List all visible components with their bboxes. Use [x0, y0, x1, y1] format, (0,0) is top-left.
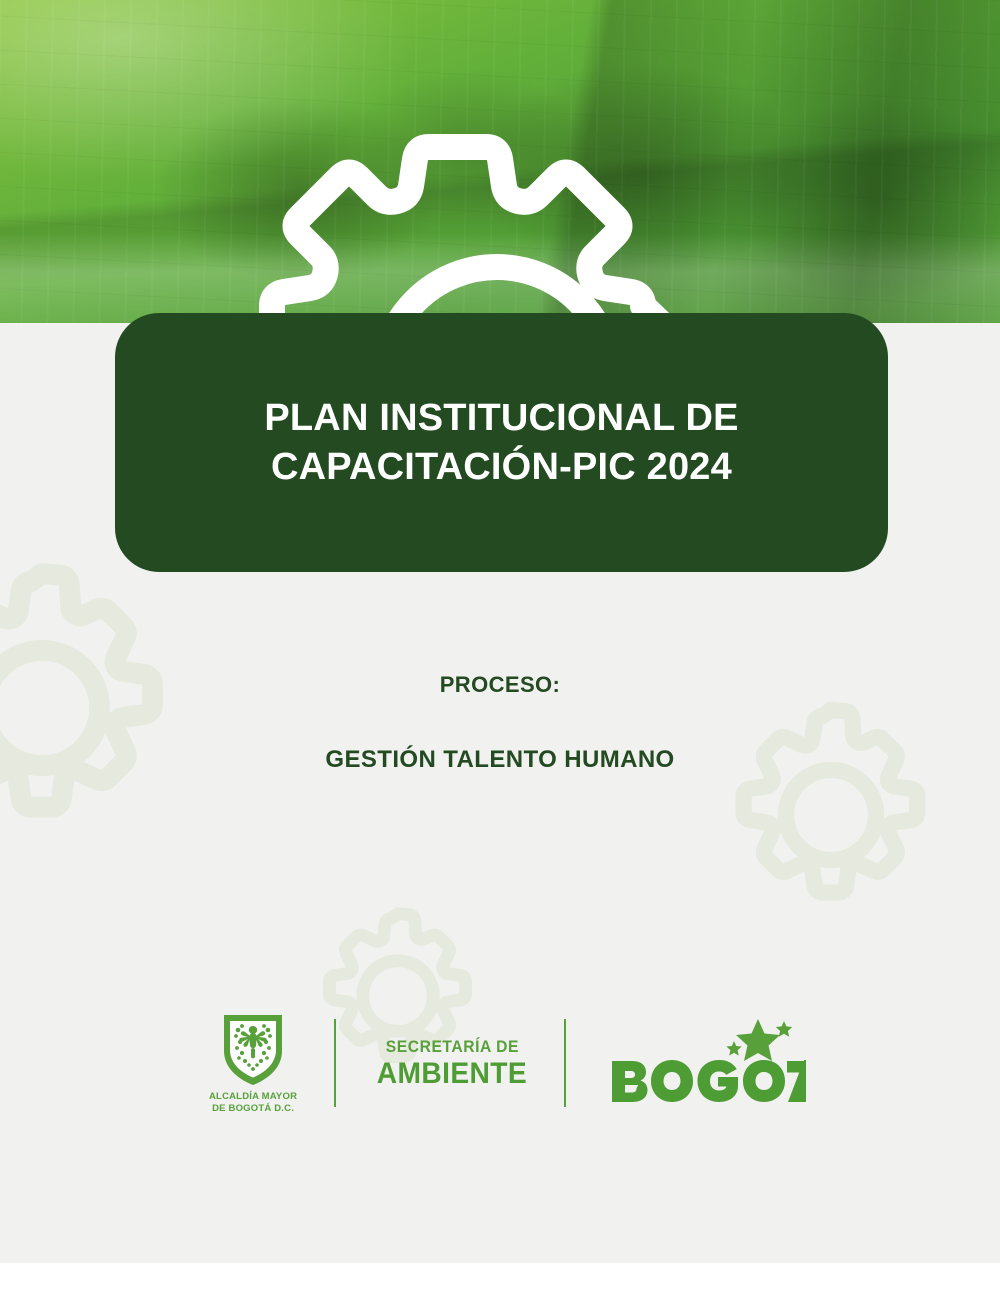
bottom-margin-strip — [0, 1263, 1000, 1294]
document-cover-page: PLAN INSTITUCIONAL DE CAPACITACIÓN-PIC 2… — [0, 0, 1000, 1294]
title-card: PLAN INSTITUCIONAL DE CAPACITACIÓN-PIC 2… — [115, 313, 888, 572]
title-line-1: PLAN INSTITUCIONAL DE — [264, 394, 738, 443]
gear-icon — [258, 82, 736, 323]
logo-bar: ALCALDÍA MAYOR DE BOGOTÁ D.C. SECRETARÍA… — [0, 1008, 1000, 1118]
bogota-coat-of-arms-shield-icon — [220, 1012, 286, 1086]
bogota-star-peak-icon — [726, 1019, 792, 1061]
secretaria-line-1: SECRETARÍA DE — [385, 1038, 518, 1055]
process-value: GESTIÓN TALENTO HUMANO — [0, 746, 1000, 774]
header-banner — [0, 0, 1000, 323]
alcaldia-line-2: DE BOGOTÁ D.C. — [209, 1103, 297, 1114]
alcaldia-label: ALCALDÍA MAYOR DE BOGOTÁ D.C. — [209, 1091, 297, 1113]
alcaldia-line-1: ALCALDÍA MAYOR — [209, 1091, 297, 1102]
title-line-2: CAPACITACIÓN-PIC 2024 — [264, 443, 738, 492]
page-title: PLAN INSTITUCIONAL DE CAPACITACIÓN-PIC 2… — [224, 394, 778, 491]
logo-alcaldia-mayor: ALCALDÍA MAYOR DE BOGOTÁ D.C. — [194, 1012, 312, 1113]
process-label: PROCESO: — [0, 672, 1000, 698]
logo-bogota — [606, 1013, 806, 1113]
logo-secretaria-ambiente: SECRETARÍA DE AMBIENTE — [372, 1038, 532, 1089]
page-sheet: PLAN INSTITUCIONAL DE CAPACITACIÓN-PIC 2… — [0, 0, 1000, 1263]
secretaria-line-2: AMBIENTE — [377, 1059, 527, 1089]
logo-divider — [564, 1019, 566, 1107]
process-block: PROCESO: GESTIÓN TALENTO HUMANO — [0, 672, 1000, 774]
logo-divider — [334, 1019, 336, 1107]
